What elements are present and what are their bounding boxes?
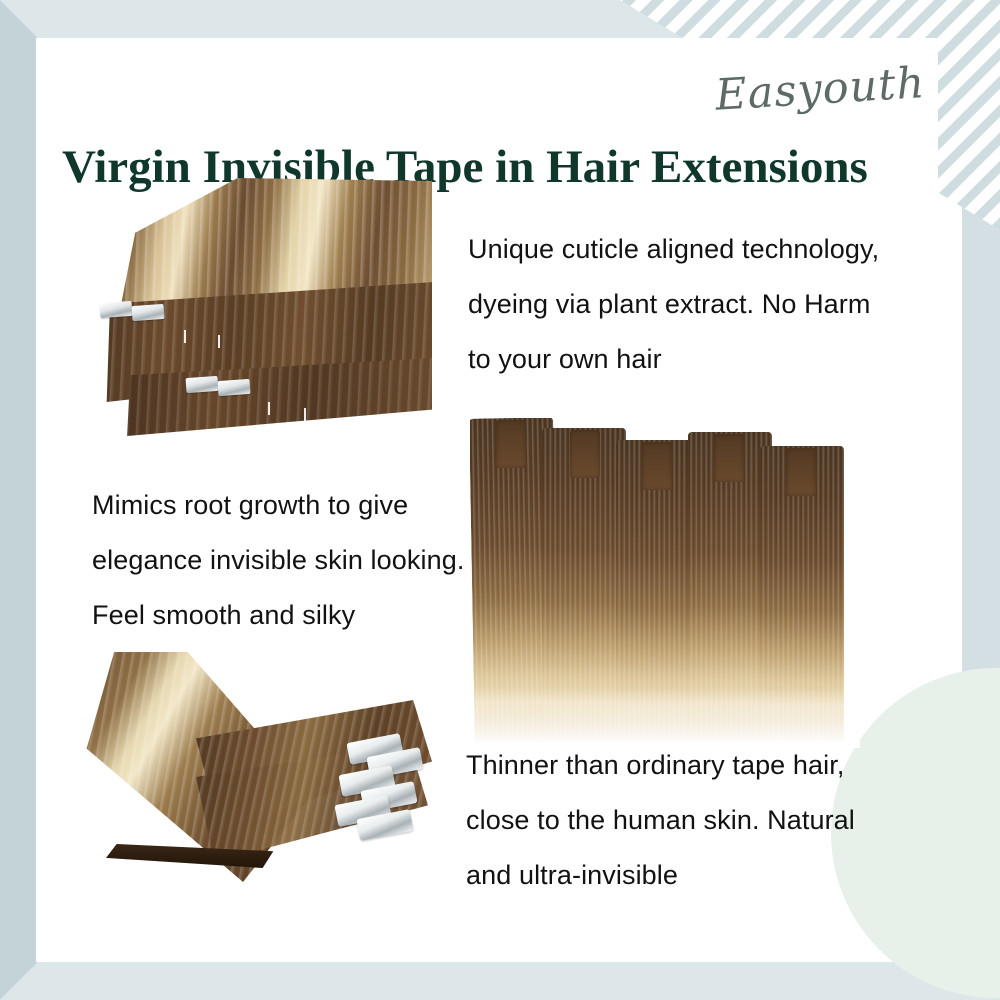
frame-border-left [0, 0, 38, 1000]
weft-top-notch [786, 448, 816, 496]
tape-tab-icon [218, 379, 251, 396]
feature-text-thin-tape: Thinner than ordinary tape hair, close t… [466, 738, 896, 903]
feature-line: elegance invisible skin looking. [92, 533, 512, 588]
infographic-canvas: Easyouth Virgin Invisible Tape in Hair E… [0, 0, 1000, 1000]
feature-text-root-growth: Mimics root growth to give elegance invi… [92, 478, 512, 643]
feature-line: Feel smooth and silky [92, 588, 512, 643]
weft-gap [218, 335, 220, 348]
product-image-folded-wefts-with-tabs [78, 648, 458, 898]
weft-gap [268, 402, 270, 415]
feature-line: to your own hair [468, 332, 908, 387]
feature-line: and ultra-invisible [466, 848, 896, 903]
product-image-wavy-highlighted-wefts [92, 162, 432, 462]
frame-border-bottom [0, 962, 1000, 1000]
weft-top-notch [714, 434, 744, 482]
feature-line: Thinner than ordinary tape hair, [466, 738, 896, 793]
tape-tab-icon [186, 376, 219, 393]
feature-line: dyeing via plant extract. No Harm [468, 277, 908, 332]
feature-line: close to the human skin. Natural [466, 793, 896, 848]
tape-tab-icon [100, 301, 133, 318]
tape-tab-icon [132, 304, 165, 321]
weft-top-notch [496, 420, 526, 468]
weft-top-notch [642, 442, 672, 490]
weft-gap [304, 408, 306, 421]
product-image-balayage-straight-wefts [470, 418, 860, 748]
weft-gap [184, 330, 186, 343]
weft-top-notch [570, 430, 600, 478]
feature-line: Mimics root growth to give [92, 478, 512, 533]
feature-line: Unique cuticle aligned technology, [468, 222, 908, 277]
feature-text-cuticle-aligned: Unique cuticle aligned technology, dyein… [468, 222, 908, 387]
